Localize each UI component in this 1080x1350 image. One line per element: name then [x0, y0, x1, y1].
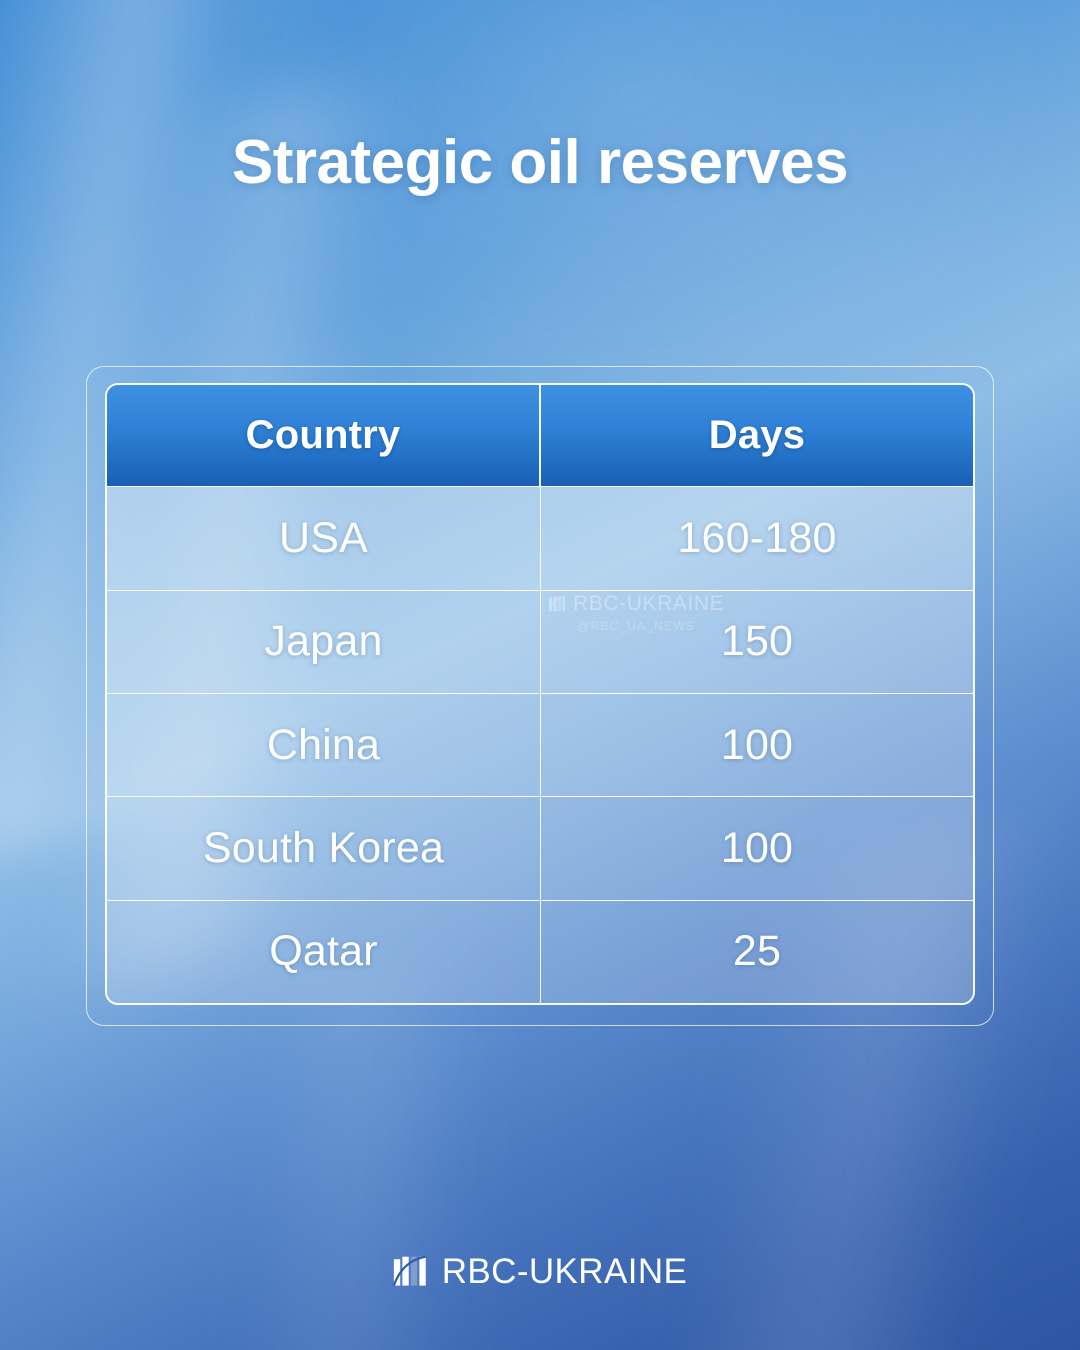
cell-country: Japan — [107, 590, 541, 693]
poster-canvas: Strategic oil reserves Country Days USA … — [0, 0, 1080, 1350]
column-header-country: Country — [107, 385, 541, 486]
cell-days: 160-180 — [541, 486, 973, 589]
cell-days: 150 — [541, 590, 973, 693]
cell-country: China — [107, 693, 541, 796]
cell-country: USA — [107, 486, 541, 589]
table-row: USA 160-180 — [107, 486, 973, 589]
footer-logo: RBC-UKRAINE — [0, 1252, 1080, 1292]
column-header-days: Days — [541, 385, 973, 486]
page-title: Strategic oil reserves — [0, 127, 1080, 198]
footer-brand: RBC-UKRAINE — [442, 1252, 688, 1292]
cell-days: 100 — [541, 796, 973, 899]
table-row: South Korea 100 — [107, 796, 973, 899]
table-header-row: Country Days — [107, 385, 973, 486]
cell-country: Qatar — [107, 900, 541, 1003]
table-row: Japan 150 — [107, 590, 973, 693]
cell-days: 25 — [541, 900, 973, 1003]
table-row: China 100 — [107, 693, 973, 796]
cell-days: 100 — [541, 693, 973, 796]
rbc-logo-icon — [393, 1255, 427, 1289]
cell-country: South Korea — [107, 796, 541, 899]
table-row: Qatar 25 — [107, 900, 973, 1003]
data-table: Country Days USA 160-180 Japan 150 China… — [105, 383, 975, 1005]
